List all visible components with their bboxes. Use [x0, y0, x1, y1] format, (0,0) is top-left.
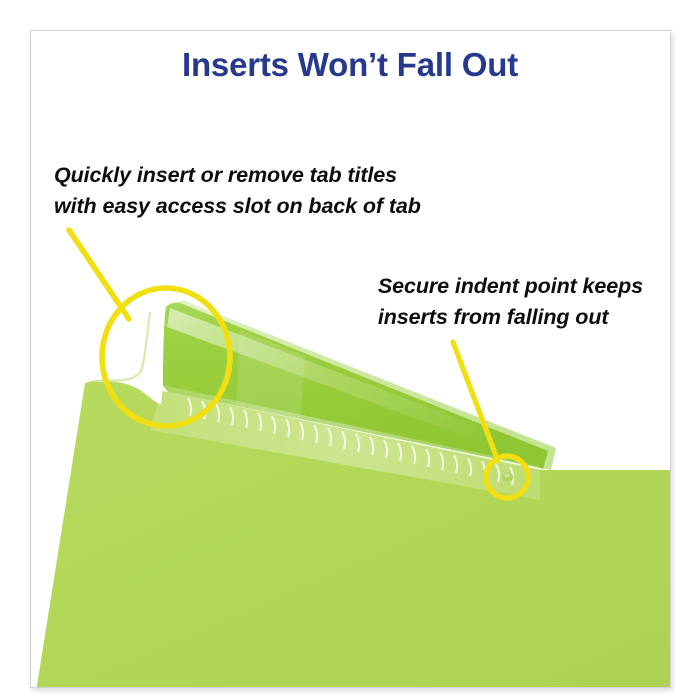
- product-photo-illustration: [30, 30, 671, 688]
- callout-circle-indent-point: [486, 456, 528, 498]
- callout-text-indent-point: Secure indent point keeps inserts from f…: [378, 271, 643, 332]
- folder-front-panel: [36, 380, 671, 688]
- leader-line-insert-slot: [69, 230, 129, 319]
- tab-sheen: [236, 330, 305, 432]
- slot-inner-edge: [102, 312, 150, 381]
- indent-point-highlight: [504, 473, 510, 478]
- product-feature-figure: Inserts Won’t Fall Out Quickly insert or…: [0, 0, 700, 700]
- leader-line-indent-point: [453, 342, 498, 461]
- page-title: Inserts Won’t Fall Out: [0, 47, 700, 83]
- photo-frame: [30, 30, 671, 688]
- secure-indent-point: [503, 473, 514, 482]
- callout-text-insert-slot: Quickly insert or remove tab titles with…: [54, 160, 421, 221]
- callout-ellipse-insert-slot: [102, 288, 230, 426]
- embossed-seam: [150, 385, 540, 500]
- insert-access-slot: [86, 308, 165, 404]
